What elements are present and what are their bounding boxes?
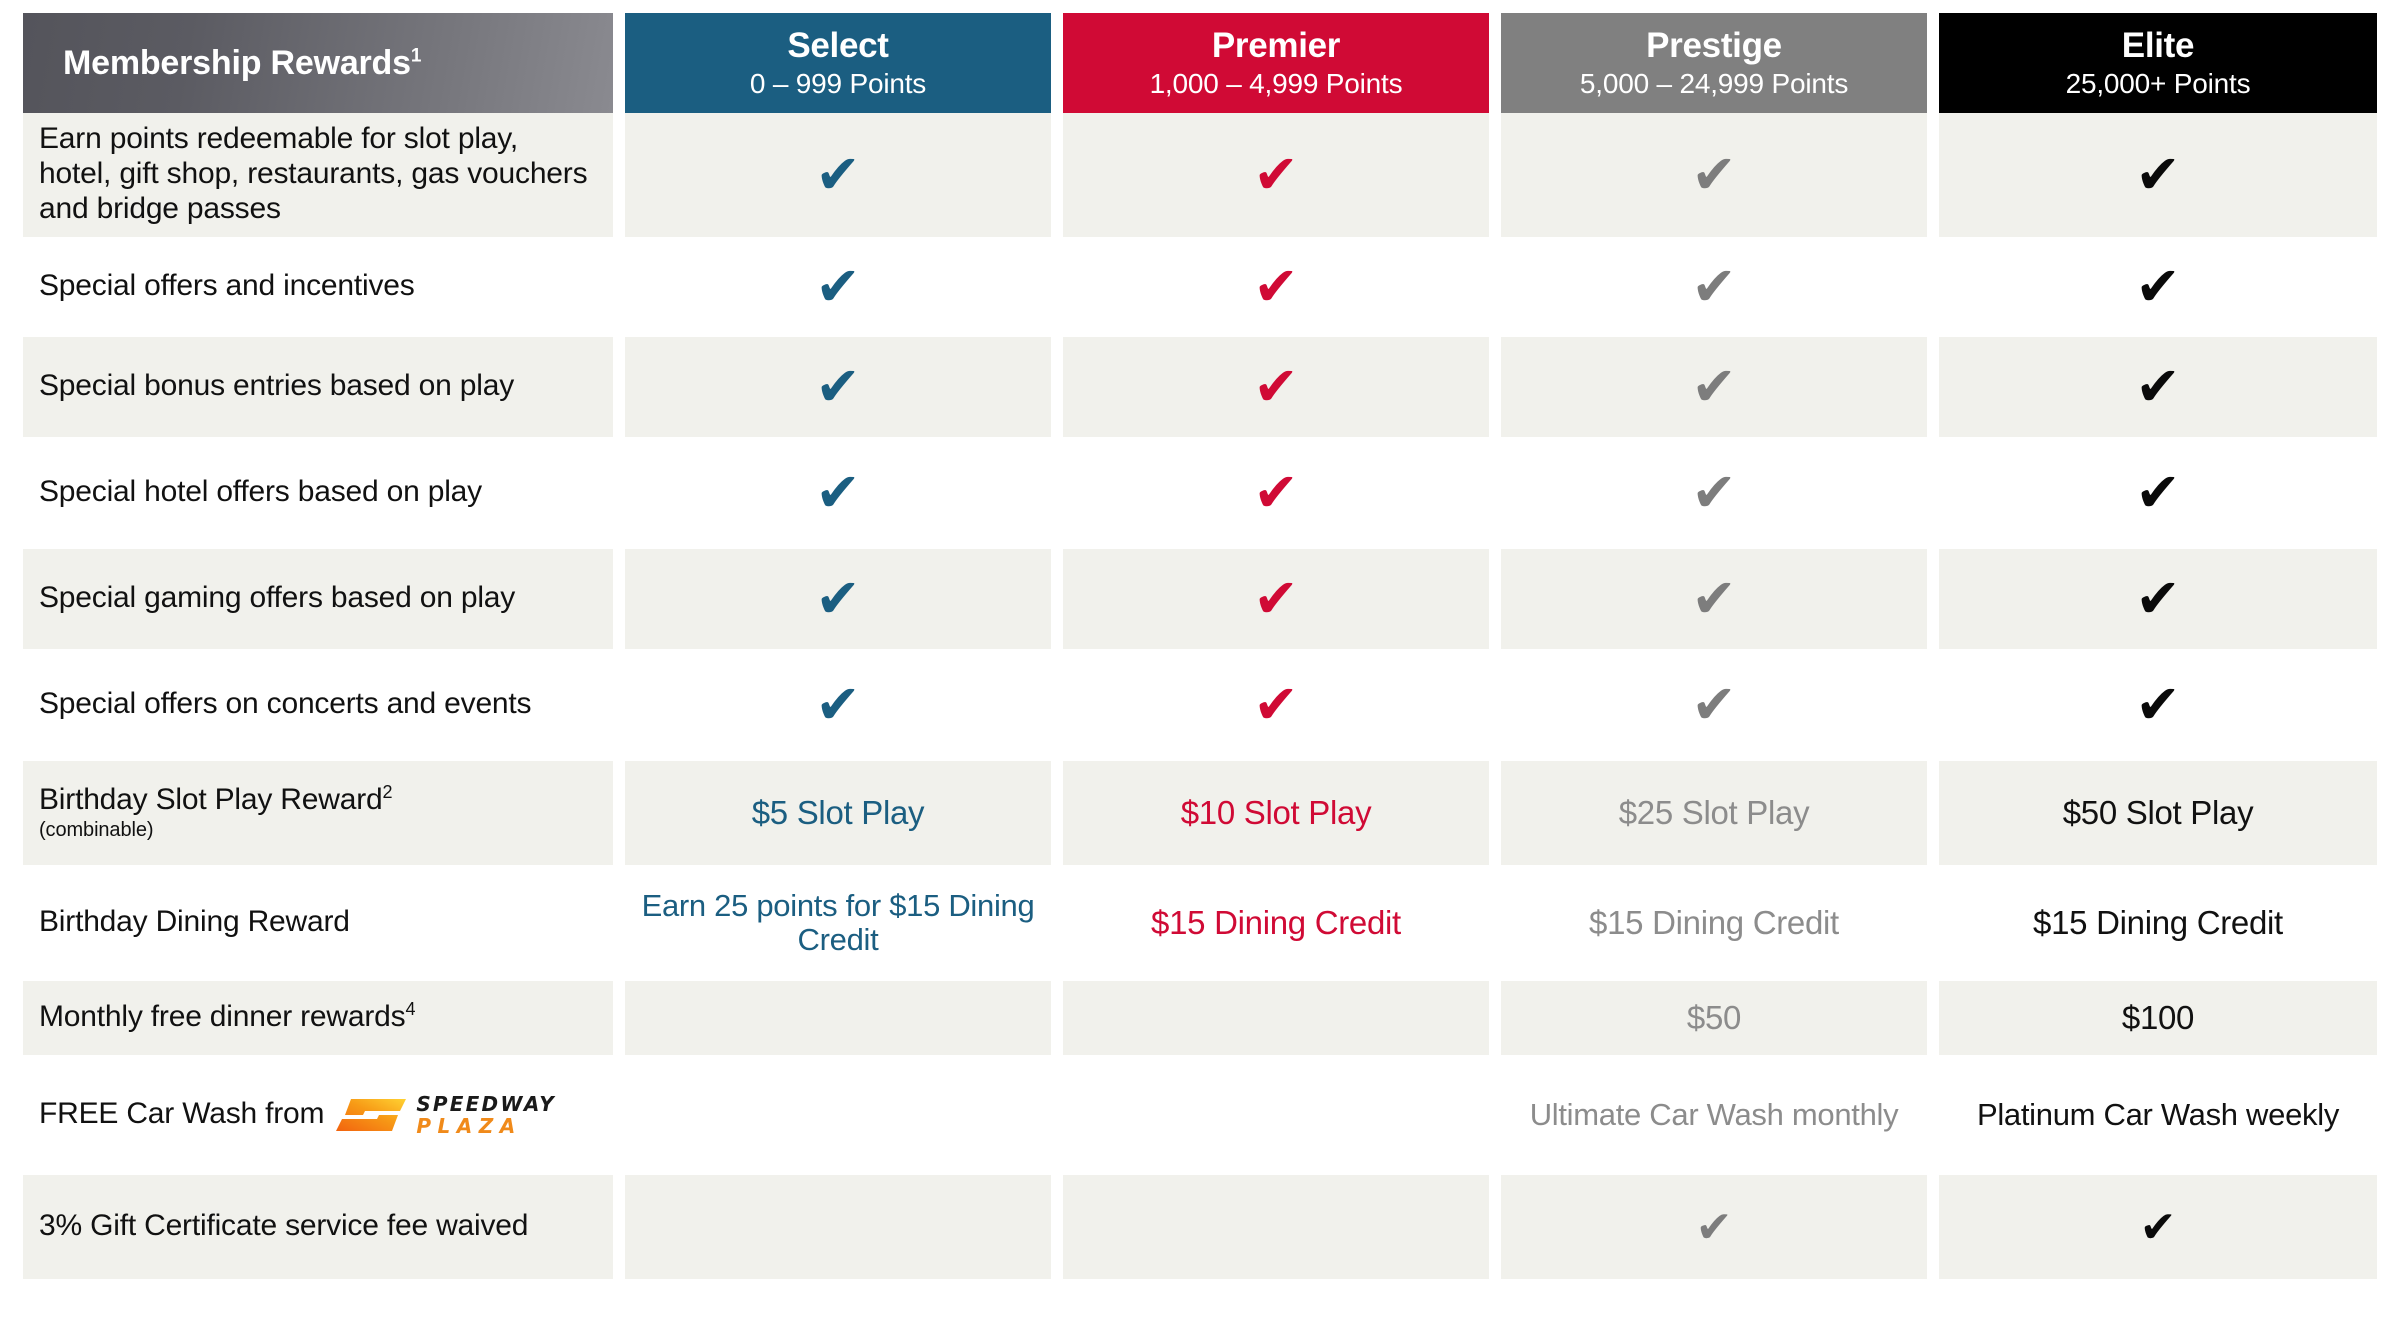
cell-prestige: ✔ — [1501, 443, 1939, 549]
cell-select: ✔ — [625, 655, 1063, 761]
check-icon: ✔ — [2135, 151, 2180, 200]
table-body: Earn points redeemable for slot play, ho… — [23, 113, 2377, 1279]
cell-prestige: ✔ — [1501, 549, 1939, 655]
cell-select — [625, 1175, 1063, 1279]
row-label: Special gaming offers based on play — [39, 581, 515, 614]
cell-value: $15 Dining Credit — [1509, 905, 1919, 942]
cell-select: ✔ — [625, 337, 1063, 443]
check-icon: ✔ — [1253, 681, 1298, 730]
check-icon: ✔ — [2135, 575, 2180, 624]
check-icon: ✔ — [2140, 1208, 2177, 1248]
membership-rewards-table-page: Membership Rewards1 Select 0 – 999 Point… — [0, 0, 2400, 1322]
page-title-footnote-marker: 1 — [411, 46, 421, 67]
row-label: Monthly free dinner rewards4 — [39, 1000, 415, 1033]
cell-value: $50 — [1509, 1000, 1919, 1037]
check-icon: ✔ — [2135, 363, 2180, 412]
cell-elite: $50 Slot Play — [1939, 761, 2377, 871]
cell-elite: ✔ — [1939, 1175, 2377, 1279]
row-label: Special bonus entries based on play — [39, 369, 514, 402]
cell-premier — [1063, 1175, 1501, 1279]
speedway-plaza-logo: SPEEDWAYPLAZA — [334, 1094, 556, 1136]
cell-select: $5 Slot Play — [625, 761, 1063, 871]
cell-prestige: $15 Dining Credit — [1501, 871, 1939, 981]
cell-prestige: $25 Slot Play — [1501, 761, 1939, 871]
row-label-footnote-marker: 4 — [405, 999, 415, 1019]
header-cell-tier-select[interactable]: Select 0 – 999 Points — [625, 13, 1063, 113]
speedway-wordmark-line2: PLAZA — [416, 1116, 556, 1136]
row-label-cell: 3% Gift Certificate service fee waived — [23, 1175, 625, 1279]
cell-premier — [1063, 1061, 1501, 1175]
cell-elite: ✔ — [1939, 655, 2377, 761]
check-icon: ✔ — [2135, 681, 2180, 730]
cell-value: $25 Slot Play — [1509, 795, 1919, 832]
cell-value: Earn 25 points for $15 Dining Credit — [633, 889, 1043, 958]
cell-premier: ✔ — [1063, 549, 1501, 655]
cell-elite: ✔ — [1939, 337, 2377, 443]
tier-range-prestige: 5,000 – 24,999 Points — [1501, 69, 1927, 98]
row-label-cell: Monthly free dinner rewards4 — [23, 981, 625, 1061]
cell-elite: ✔ — [1939, 443, 2377, 549]
speedway-wordmark-line1: SPEEDWAY — [416, 1094, 556, 1114]
cell-elite: Platinum Car Wash weekly — [1939, 1061, 2377, 1175]
row-label: Special offers on concerts and events — [39, 687, 531, 720]
table-row: Earn points redeemable for slot play, ho… — [23, 113, 2377, 243]
table-row: FREE Car Wash fromSPEEDWAYPLAZAUltimate … — [23, 1061, 2377, 1175]
table-row: Special gaming offers based on play✔✔✔✔ — [23, 549, 2377, 655]
cell-premier: ✔ — [1063, 243, 1501, 337]
row-label-subtext: (combinable) — [39, 819, 597, 842]
check-icon: ✔ — [1691, 681, 1736, 730]
row-label: 3% Gift Certificate service fee waived — [39, 1209, 528, 1242]
table-row: Special bonus entries based on play✔✔✔✔ — [23, 337, 2377, 443]
row-label: Earn points redeemable for slot play, ho… — [39, 122, 587, 225]
tier-range-elite: 25,000+ Points — [1939, 69, 2377, 98]
check-icon: ✔ — [1691, 151, 1736, 200]
cell-premier: $15 Dining Credit — [1063, 871, 1501, 981]
cell-select: ✔ — [625, 549, 1063, 655]
check-icon: ✔ — [1253, 151, 1298, 200]
row-label-cell: Special offers on concerts and events — [23, 655, 625, 761]
sp-monogram-icon — [334, 1096, 408, 1134]
cell-value: $10 Slot Play — [1071, 795, 1481, 832]
cell-value: $15 Dining Credit — [1071, 905, 1481, 942]
row-label: FREE Car Wash from — [39, 1097, 324, 1132]
cell-select: ✔ — [625, 113, 1063, 243]
page-title-text: Membership Rewards — [63, 44, 411, 82]
check-icon: ✔ — [815, 363, 860, 412]
check-icon: ✔ — [1253, 469, 1298, 518]
check-icon: ✔ — [2135, 469, 2180, 518]
check-icon: ✔ — [815, 575, 860, 624]
row-label-cell: Special offers and incentives — [23, 243, 625, 337]
cell-premier: $10 Slot Play — [1063, 761, 1501, 871]
check-icon: ✔ — [1253, 263, 1298, 312]
row-label: Birthday Slot Play Reward2 — [39, 783, 392, 816]
table-row: Special offers and incentives✔✔✔✔ — [23, 243, 2377, 337]
row-label-cell: Special bonus entries based on play — [23, 337, 625, 443]
cell-select: Earn 25 points for $15 Dining Credit — [625, 871, 1063, 981]
header-row: Membership Rewards1 Select 0 – 999 Point… — [23, 13, 2377, 113]
tier-name-prestige: Prestige — [1501, 28, 1927, 64]
check-icon: ✔ — [1253, 575, 1298, 624]
check-icon: ✔ — [1691, 575, 1736, 624]
cell-value: Platinum Car Wash weekly — [1947, 1098, 2369, 1133]
row-label-cell: Birthday Slot Play Reward2(combinable) — [23, 761, 625, 871]
cell-value: Ultimate Car Wash monthly — [1509, 1098, 1919, 1133]
cell-prestige: ✔ — [1501, 655, 1939, 761]
table-row: Birthday Slot Play Reward2(combinable)$5… — [23, 761, 2377, 871]
table-row: Monthly free dinner rewards4$50$100 — [23, 981, 2377, 1061]
check-icon: ✔ — [2135, 263, 2180, 312]
cell-elite: ✔ — [1939, 549, 2377, 655]
cell-prestige: ✔ — [1501, 113, 1939, 243]
table-row: Special hotel offers based on play✔✔✔✔ — [23, 443, 2377, 549]
cell-select: ✔ — [625, 443, 1063, 549]
cell-select — [625, 1061, 1063, 1175]
check-icon: ✔ — [1696, 1208, 1733, 1248]
cell-elite: $15 Dining Credit — [1939, 871, 2377, 981]
row-label: Special hotel offers based on play — [39, 475, 482, 508]
cell-elite: ✔ — [1939, 243, 2377, 337]
check-icon: ✔ — [815, 469, 860, 518]
cell-premier: ✔ — [1063, 655, 1501, 761]
cell-premier: ✔ — [1063, 337, 1501, 443]
tier-name-elite: Elite — [1939, 28, 2377, 64]
cell-select — [625, 981, 1063, 1061]
cell-prestige: Ultimate Car Wash monthly — [1501, 1061, 1939, 1175]
cell-value: $50 Slot Play — [1947, 795, 2369, 832]
check-icon: ✔ — [815, 263, 860, 312]
cell-value: $15 Dining Credit — [1947, 905, 2369, 942]
cell-premier — [1063, 981, 1501, 1061]
tier-range-select: 0 – 999 Points — [625, 69, 1051, 98]
table-row: 3% Gift Certificate service fee waived✔✔ — [23, 1175, 2377, 1279]
tier-name-select: Select — [625, 28, 1051, 64]
row-label: Special offers and incentives — [39, 269, 415, 302]
check-icon: ✔ — [1691, 363, 1736, 412]
row-label: Birthday Dining Reward — [39, 905, 350, 938]
check-icon: ✔ — [1253, 363, 1298, 412]
check-icon: ✔ — [1691, 263, 1736, 312]
page-title: Membership Rewards1 — [63, 44, 421, 82]
tier-range-premier: 1,000 – 4,999 Points — [1063, 69, 1489, 98]
table-row: Birthday Dining RewardEarn 25 points for… — [23, 871, 2377, 981]
check-icon: ✔ — [815, 681, 860, 730]
cell-elite: $100 — [1939, 981, 2377, 1061]
cell-premier: ✔ — [1063, 443, 1501, 549]
header-cell-membership-rewards: Membership Rewards1 — [23, 13, 625, 113]
header-cell-tier-elite[interactable]: Elite 25,000+ Points — [1939, 13, 2377, 113]
header-cell-tier-premier[interactable]: Premier 1,000 – 4,999 Points — [1063, 13, 1501, 113]
cell-premier: ✔ — [1063, 113, 1501, 243]
row-label-cell: Birthday Dining Reward — [23, 871, 625, 981]
row-label-cell: Earn points redeemable for slot play, ho… — [23, 113, 625, 243]
cell-select: ✔ — [625, 243, 1063, 337]
row-label-cell: Special hotel offers based on play — [23, 443, 625, 549]
row-label-cell: FREE Car Wash fromSPEEDWAYPLAZA — [23, 1061, 625, 1175]
cell-value: $100 — [1947, 1000, 2369, 1037]
cell-elite: ✔ — [1939, 113, 2377, 243]
cell-prestige: ✔ — [1501, 243, 1939, 337]
cell-prestige: ✔ — [1501, 1175, 1939, 1279]
tier-name-premier: Premier — [1063, 28, 1489, 64]
row-label-cell: Special gaming offers based on play — [23, 549, 625, 655]
table-row: Special offers on concerts and events✔✔✔… — [23, 655, 2377, 761]
check-icon: ✔ — [1691, 469, 1736, 518]
cell-value: $5 Slot Play — [633, 795, 1043, 832]
row-label-footnote-marker: 2 — [383, 782, 393, 802]
table-header: Membership Rewards1 Select 0 – 999 Point… — [23, 13, 2377, 113]
check-icon: ✔ — [815, 151, 860, 200]
cell-prestige: $50 — [1501, 981, 1939, 1061]
header-cell-tier-prestige[interactable]: Prestige 5,000 – 24,999 Points — [1501, 13, 1939, 113]
cell-prestige: ✔ — [1501, 337, 1939, 443]
membership-rewards-matrix: Membership Rewards1 Select 0 – 999 Point… — [23, 13, 2377, 1279]
